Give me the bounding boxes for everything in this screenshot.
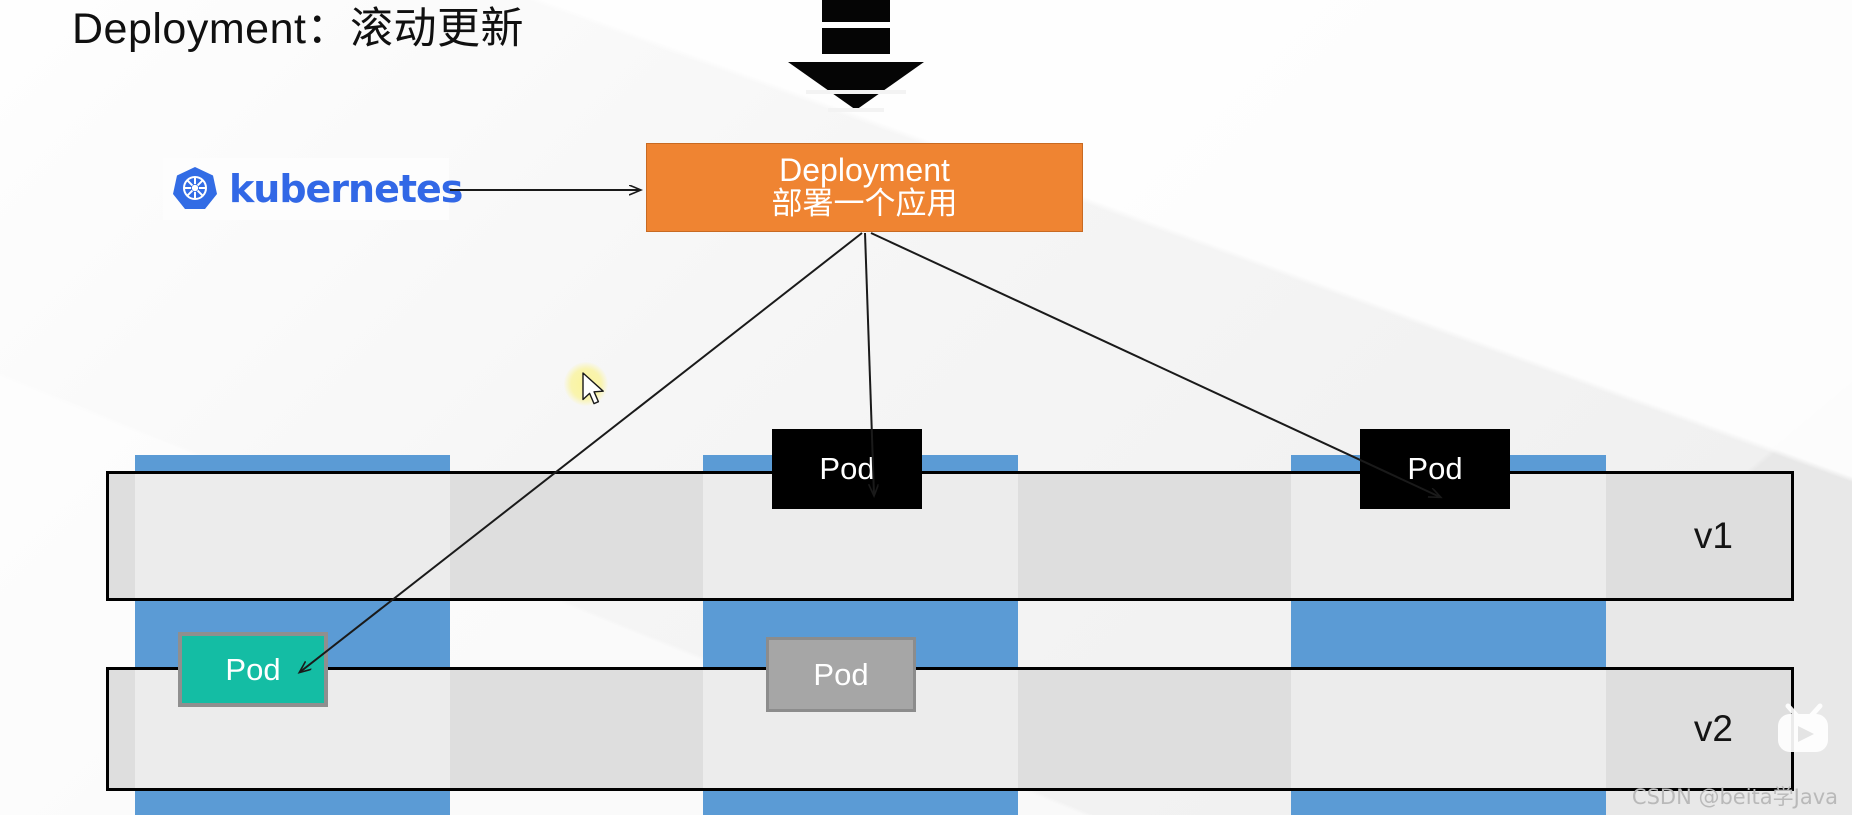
pod-v2-column2: Pod [766, 637, 916, 712]
download-arrow-icon [788, 0, 924, 130]
pod-v2-column1: Pod [178, 632, 328, 707]
kubernetes-logo: kubernetes [163, 158, 449, 220]
version-label-v2: v2 [1694, 708, 1733, 750]
row-v1-slot-1 [135, 474, 450, 598]
kubernetes-helm-icon [171, 165, 219, 213]
pod-v1-column3: Pod [1360, 429, 1510, 509]
bilibili-tv-icon [1770, 700, 1836, 760]
slide-canvas: Deployment：滚动更新 [0, 0, 1852, 815]
page-title: Deployment：滚动更新 [72, 0, 524, 56]
pod-v1-column2: Pod [772, 429, 922, 509]
kubernetes-wordmark: kubernetes [229, 170, 462, 208]
deployment-title-cn: 部署一个应用 [772, 188, 958, 221]
csdn-watermark: CSDN @beita学Java [1632, 781, 1838, 811]
deployment-box: Deployment 部署一个应用 [646, 143, 1083, 232]
version-label-v1: v1 [1694, 515, 1733, 557]
mouse-pointer-icon [582, 372, 608, 410]
row-v2-slot-3 [1291, 670, 1606, 788]
deployment-title-en: Deployment [779, 154, 950, 188]
version-row-v1: Pod Pod v1 [106, 471, 1794, 601]
version-row-v2: Pod Pod v2 [106, 667, 1794, 791]
